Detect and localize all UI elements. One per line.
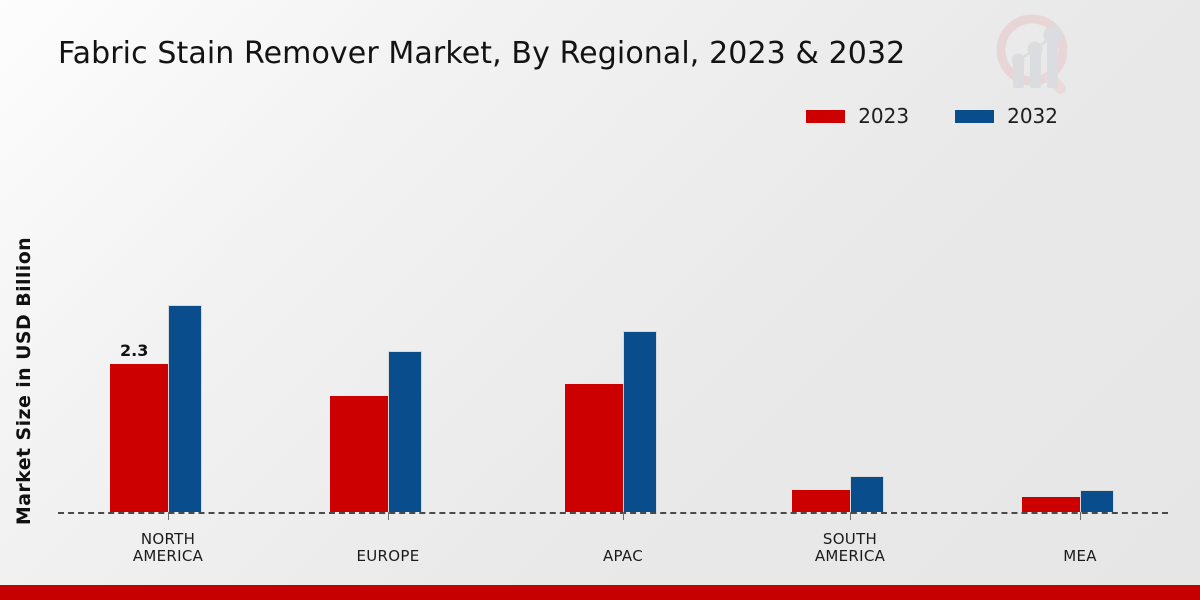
x-label-south-america-line2: AMERICA xyxy=(750,548,950,566)
bar-group-europe: EUROPE xyxy=(330,0,530,600)
x-tick-europe xyxy=(388,512,389,520)
bar-group-apac: APAC xyxy=(565,0,765,600)
x-tick-apac xyxy=(623,512,624,520)
footer-accent-bar xyxy=(0,585,1200,600)
bar-2023-europe[interactable] xyxy=(330,396,388,512)
bars-north-america xyxy=(110,305,202,512)
x-label-north-america: NORTH AMERICA xyxy=(68,531,268,566)
x-label-south-america: SOUTH AMERICA xyxy=(750,531,950,566)
bars-south-america xyxy=(792,476,884,512)
x-label-mea-line1: MEA xyxy=(980,548,1180,566)
bar-2023-south-america[interactable] xyxy=(792,490,850,512)
x-tick-south-america xyxy=(850,512,851,520)
plot-area: 2.3 NORTH AMERICA EUROPE xyxy=(0,0,1200,600)
bar-2032-europe[interactable] xyxy=(388,351,422,512)
x-label-europe: EUROPE xyxy=(288,548,488,566)
bar-2023-apac[interactable] xyxy=(565,384,623,512)
bar-2032-mea[interactable] xyxy=(1080,490,1114,512)
x-label-north-america-line1: NORTH xyxy=(68,531,268,549)
bar-2032-north-america[interactable] xyxy=(168,305,202,512)
bar-2032-south-america[interactable] xyxy=(850,476,884,512)
bar-group-mea: MEA xyxy=(1022,0,1200,600)
x-label-mea: MEA xyxy=(980,548,1180,566)
bar-2023-north-america[interactable] xyxy=(110,364,168,512)
bar-group-south-america: SOUTH AMERICA xyxy=(792,0,992,600)
x-tick-mea xyxy=(1080,512,1081,520)
x-label-apac: APAC xyxy=(523,548,723,566)
bar-2023-mea[interactable] xyxy=(1022,497,1080,512)
x-tick-north-america xyxy=(168,512,169,520)
bars-europe xyxy=(330,351,422,512)
x-label-apac-line1: APAC xyxy=(523,548,723,566)
x-label-europe-line1: EUROPE xyxy=(288,548,488,566)
bars-mea xyxy=(1022,490,1114,512)
x-label-south-america-line1: SOUTH xyxy=(750,531,950,549)
bar-2032-apac[interactable] xyxy=(623,331,657,512)
chart-page: Fabric Stain Remover Market, By Regional… xyxy=(0,0,1200,600)
x-label-north-america-line2: AMERICA xyxy=(68,548,268,566)
bar-group-north-america: 2.3 NORTH AMERICA xyxy=(110,0,310,600)
bars-apac xyxy=(565,331,657,512)
